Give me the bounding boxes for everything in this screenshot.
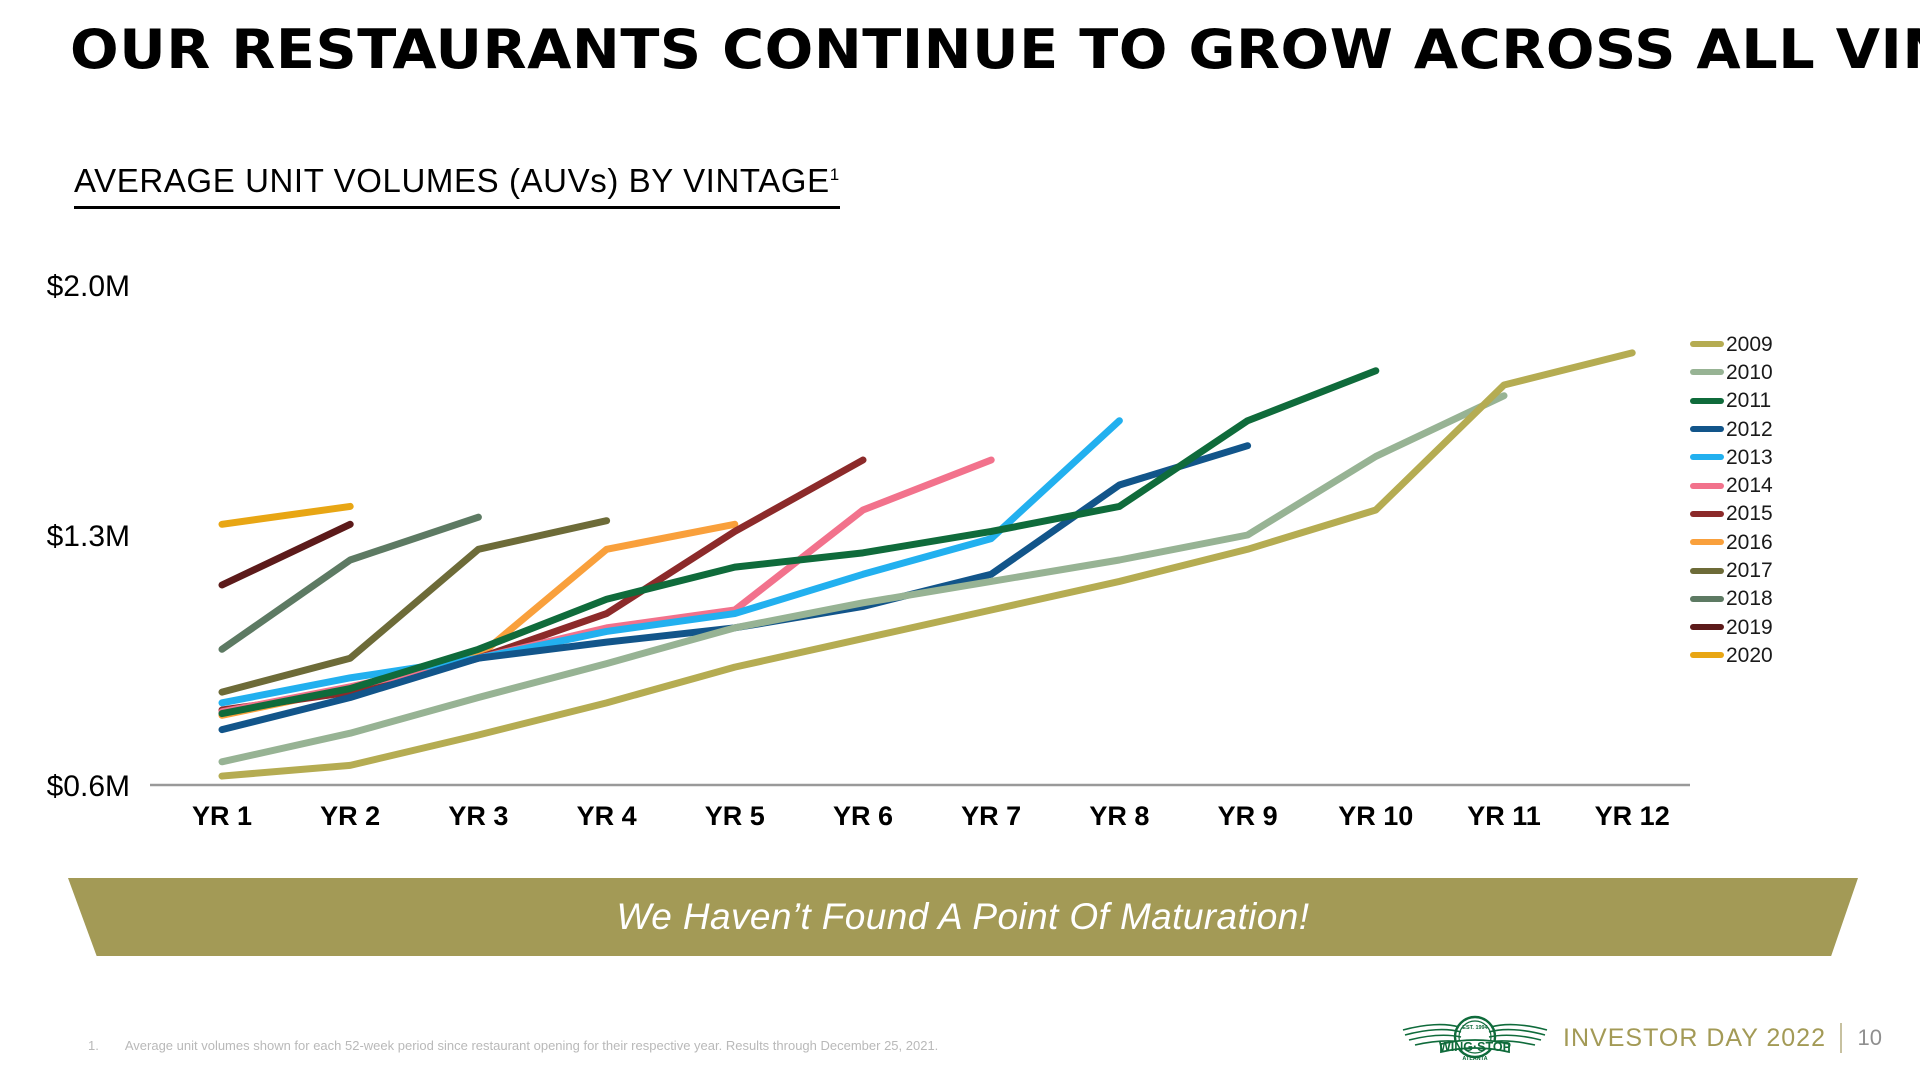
legend-item-2016: 2016 (1690, 528, 1890, 556)
y-axis-tick-label: $1.3M (47, 520, 130, 553)
x-axis-tick-label: YR 12 (1595, 801, 1670, 831)
x-axis-tick-label: YR 11 (1467, 801, 1541, 831)
series-line-2014 (222, 460, 991, 712)
x-axis-tick-label: YR 1 (192, 801, 252, 831)
legend-swatch-icon (1690, 369, 1724, 375)
legend-swatch-icon (1690, 624, 1724, 630)
y-axis-labels: $2.0M$1.3M$0.6M (47, 270, 130, 803)
series-line-2009 (222, 353, 1632, 776)
callout-banner: We Haven’t Found A Point Of Maturation! (68, 878, 1858, 956)
series-line-2018 (222, 517, 478, 649)
page-title: OUR RESTAURANTS CONTINUE TO GROW ACROSS … (70, 22, 1920, 79)
legend-item-label: 2013 (1726, 447, 1773, 468)
x-axis-tick-label: YR 4 (577, 801, 637, 831)
chart-heading-group: AVERAGE UNIT VOLUMES (AUVs) BY VINTAGE1 (74, 162, 840, 209)
chart-heading-underline (74, 206, 840, 209)
chart-heading-text: AVERAGE UNIT VOLUMES (AUVs) BY VINTAGE (74, 162, 830, 199)
legend-item-2010: 2010 (1690, 358, 1890, 386)
x-axis-tick-label: YR 5 (705, 801, 765, 831)
legend-swatch-icon (1690, 454, 1724, 460)
legend-swatch-icon (1690, 483, 1724, 489)
legend-item-label: 2012 (1726, 419, 1773, 440)
footnote-text: Average unit volumes shown for each 52-w… (125, 1038, 938, 1054)
wingstop-logo-top-text: EST. 1994 (1462, 1025, 1488, 1031)
legend-item-2011: 2011 (1690, 387, 1890, 415)
legend-swatch-icon (1690, 341, 1724, 347)
legend-item-2014: 2014 (1690, 471, 1890, 499)
x-axis-tick-label: YR 6 (833, 801, 893, 831)
legend-item-label: 2019 (1726, 617, 1773, 638)
legend-item-label: 2018 (1726, 588, 1773, 609)
chart-series-group (222, 353, 1632, 776)
legend-item-2012: 2012 (1690, 415, 1890, 443)
page-number: 10 (1856, 1025, 1882, 1051)
footnote-marker: 1. (88, 1038, 99, 1054)
x-axis-tick-label: YR 3 (448, 801, 508, 831)
x-axis-tick-label: YR 2 (320, 801, 380, 831)
series-line-2012 (222, 446, 1248, 730)
series-line-2011 (222, 371, 1376, 714)
legend-item-2015: 2015 (1690, 500, 1890, 528)
legend-item-label: 2010 (1726, 362, 1773, 383)
series-line-2010 (222, 396, 1504, 762)
slide-root: OUR RESTAURANTS CONTINUE TO GROW ACROSS … (0, 0, 1920, 1080)
legend-swatch-icon (1690, 398, 1724, 404)
legend-item-2017: 2017 (1690, 556, 1890, 584)
legend-item-2018: 2018 (1690, 585, 1890, 613)
legend-swatch-icon (1690, 652, 1724, 658)
legend-item-2013: 2013 (1690, 443, 1890, 471)
series-line-2013 (222, 421, 1119, 703)
legend-swatch-icon (1690, 426, 1724, 432)
legend-swatch-icon (1690, 539, 1724, 545)
wingstop-logo: WING·STOP EST. 1994 ATLANTA (1401, 1010, 1549, 1066)
footnote: 1. Average unit volumes shown for each 5… (88, 1038, 938, 1054)
x-axis-tick-label: YR 7 (961, 801, 1021, 831)
legend-item-label: 2014 (1726, 475, 1773, 496)
x-axis-tick-label: YR 10 (1338, 801, 1413, 831)
series-line-2015 (222, 460, 863, 710)
footer-brand: WING·STOP EST. 1994 ATLANTA INVESTOR DAY… (1401, 1010, 1882, 1066)
footer-divider (1840, 1023, 1842, 1053)
legend-swatch-icon (1690, 596, 1724, 602)
legend-swatch-icon (1690, 511, 1724, 517)
x-axis-tick-label: YR 9 (1218, 801, 1278, 831)
legend-item-2020: 2020 (1690, 641, 1890, 669)
legend-item-label: 2016 (1726, 532, 1773, 553)
chart-legend: 2009201020112012201320142015201620172018… (1690, 330, 1890, 670)
legend-item-label: 2017 (1726, 560, 1773, 581)
legend-swatch-icon (1690, 568, 1724, 574)
y-axis-tick-label: $0.6M (47, 770, 130, 803)
investor-day-label: INVESTOR DAY 2022 (1563, 1024, 1826, 1053)
x-axis-tick-label: YR 8 (1089, 801, 1149, 831)
callout-banner-text: We Haven’t Found A Point Of Maturation! (617, 896, 1310, 938)
y-axis-tick-label: $2.0M (47, 270, 130, 303)
series-line-2017 (222, 521, 607, 692)
wingstop-logo-bottom-text: ATLANTA (1462, 1056, 1487, 1062)
series-line-2019 (222, 524, 350, 585)
legend-item-label: 2015 (1726, 503, 1773, 524)
x-axis-labels: YR 1YR 2YR 3YR 4YR 5YR 6YR 7YR 8YR 9YR 1… (192, 801, 1670, 831)
legend-item-label: 2011 (1726, 390, 1771, 411)
legend-item-label: 2020 (1726, 645, 1773, 666)
series-line-2020 (222, 506, 350, 524)
wingstop-wordmark: WING·STOP (1439, 1040, 1511, 1054)
chart-heading: AVERAGE UNIT VOLUMES (AUVs) BY VINTAGE1 (74, 162, 840, 200)
series-line-2016 (222, 524, 735, 715)
legend-item-2009: 2009 (1690, 330, 1890, 358)
legend-item-2019: 2019 (1690, 613, 1890, 641)
legend-item-label: 2009 (1726, 334, 1773, 355)
chart-heading-superscript: 1 (830, 165, 840, 184)
